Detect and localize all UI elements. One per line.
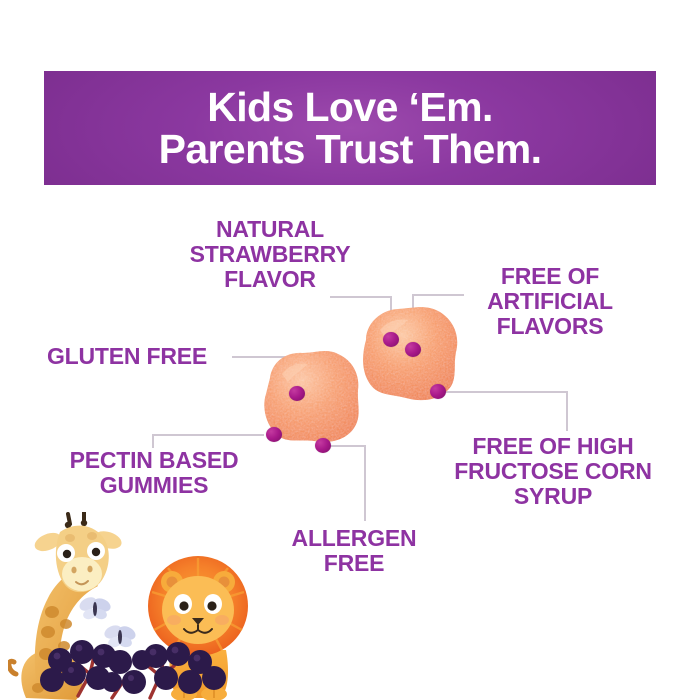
marker-dot-pectin	[266, 427, 282, 442]
feature-label-free-of-high-fructose-corn-syrup: FREE OF HIGH FRUCTOSE CORN SYRUP	[438, 434, 668, 508]
feature-label-gluten-free: GLUTEN FREE	[18, 344, 236, 369]
marker-dot-strawberry	[383, 332, 399, 347]
elderberry-cluster-illustration	[38, 630, 228, 700]
connector-strawberry-horizontal	[330, 296, 392, 298]
connector-allergen-vertical	[364, 445, 366, 521]
feature-label-allergen-free: ALLERGEN FREE	[258, 526, 450, 576]
banner-headline-line1: Kids Love ‘Em.	[207, 86, 493, 128]
feature-label-pectin-based-gummies: PECTIN BASED GUMMIES	[28, 448, 280, 498]
connector-pectin-horizontal	[152, 434, 264, 436]
infographic-page: Kids Love ‘Em. Parents Trust Them.	[0, 0, 700, 700]
feature-label-free-of-artificial-flavors: FREE OF ARTIFICIAL FLAVORS	[452, 264, 648, 338]
marker-dot-hfcs	[430, 384, 446, 399]
feature-label-natural-strawberry-flavor: NATURAL STRAWBERRY FLAVOR	[152, 217, 388, 291]
marker-dot-gluten	[289, 386, 305, 401]
connector-hfcs-vertical	[566, 391, 568, 431]
banner-headline-line2: Parents Trust Them.	[159, 128, 542, 170]
marker-dot-artificial	[405, 342, 421, 357]
marker-dot-allergen	[315, 438, 331, 453]
butterfly-upper-illustration	[78, 596, 112, 622]
header-banner: Kids Love ‘Em. Parents Trust Them.	[44, 71, 656, 185]
connector-pectin-vertical	[152, 434, 154, 448]
